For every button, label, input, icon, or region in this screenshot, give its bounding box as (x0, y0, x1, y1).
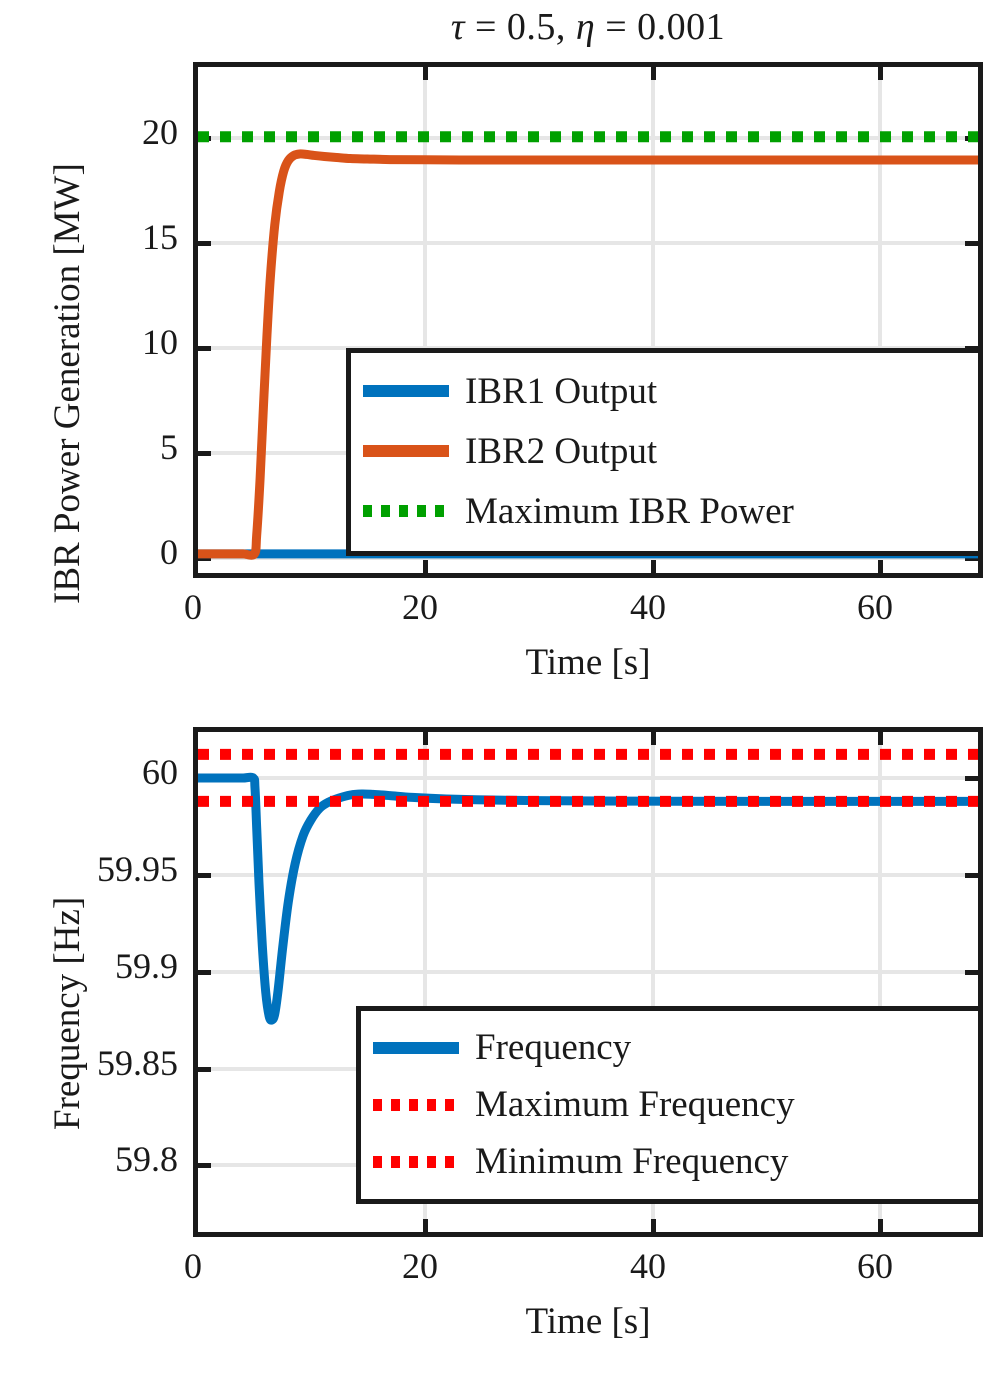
series-frequency (198, 777, 983, 1020)
legend-item-max-frequency[interactable]: Maximum Frequency (373, 1076, 964, 1133)
title-eta: η (576, 6, 595, 48)
y-tick-label-bottom-59-95: 59.95 (0, 848, 178, 890)
legend-label-frequency: Frequency (475, 1029, 631, 1066)
x-tick-label-top-0: 0 (143, 586, 243, 628)
x-tick-label-bottom-60: 60 (825, 1245, 925, 1287)
x-tick-label-bottom-20: 20 (370, 1245, 470, 1287)
legend-item-max-ibr-power[interactable]: Maximum IBR Power (363, 481, 964, 541)
legend-label-max-frequency: Maximum Frequency (475, 1086, 795, 1123)
y-tick-label-bottom-59-9: 59.9 (0, 945, 178, 987)
title-tau: τ (451, 6, 465, 48)
y-tick-label-bottom-60: 60 (0, 751, 178, 793)
legend-swatch-ibr1 (363, 385, 449, 397)
legend-ibr-power: IBR1 Output IBR2 Output Maximum IBR Powe… (346, 348, 983, 556)
y-tick-label-top-20: 20 (78, 111, 178, 153)
y-tick-label-bottom-59-85: 59.85 (0, 1042, 178, 1084)
legend-label-ibr2: IBR2 Output (465, 433, 657, 470)
x-tick-label-bottom-40: 40 (598, 1245, 698, 1287)
legend-item-ibr1[interactable]: IBR1 Output (363, 361, 964, 421)
legend-label-min-frequency: Minimum Frequency (475, 1143, 788, 1180)
x-axis-label-top: Time [s] (193, 641, 983, 684)
x-tick-label-top-20: 20 (370, 586, 470, 628)
legend-swatch-ibr2 (363, 445, 449, 457)
legend-swatch-frequency (373, 1042, 459, 1054)
title-tau-value: = 0.5, (465, 6, 576, 48)
y-tick-label-bottom-59-8: 59.8 (0, 1138, 178, 1180)
x-tick-label-bottom-0: 0 (143, 1245, 243, 1287)
legend-item-frequency[interactable]: Frequency (373, 1019, 964, 1076)
legend-swatch-min-frequency (373, 1156, 459, 1168)
plot-title-top: τ = 0.5, η = 0.001 (193, 5, 983, 49)
legend-item-ibr2[interactable]: IBR2 Output (363, 421, 964, 481)
y-tick-label-top-10: 10 (78, 321, 178, 363)
title-eta-value: = 0.001 (595, 6, 725, 48)
y-tick-label-top-0: 0 (78, 531, 178, 573)
legend-item-min-frequency[interactable]: Minimum Frequency (373, 1133, 964, 1190)
x-axis-label-bottom: Time [s] (193, 1300, 983, 1343)
y-tick-label-top-5: 5 (78, 426, 178, 468)
legend-swatch-max-frequency (373, 1099, 459, 1111)
y-axis-label-bottom: Frequency [Hz] (46, 897, 89, 1130)
legend-frequency: Frequency Maximum Frequency Minimum Freq… (356, 1006, 983, 1204)
x-tick-label-top-40: 40 (598, 586, 698, 628)
x-tick-label-top-60: 60 (825, 586, 925, 628)
y-tick-label-top-15: 15 (78, 216, 178, 258)
legend-label-max-ibr-power: Maximum IBR Power (465, 493, 794, 530)
legend-label-ibr1: IBR1 Output (465, 373, 657, 410)
legend-swatch-max-ibr-power (363, 505, 449, 517)
figure-root: τ = 0.5, η = 0.001 IBR Power Generation … (0, 0, 997, 1378)
